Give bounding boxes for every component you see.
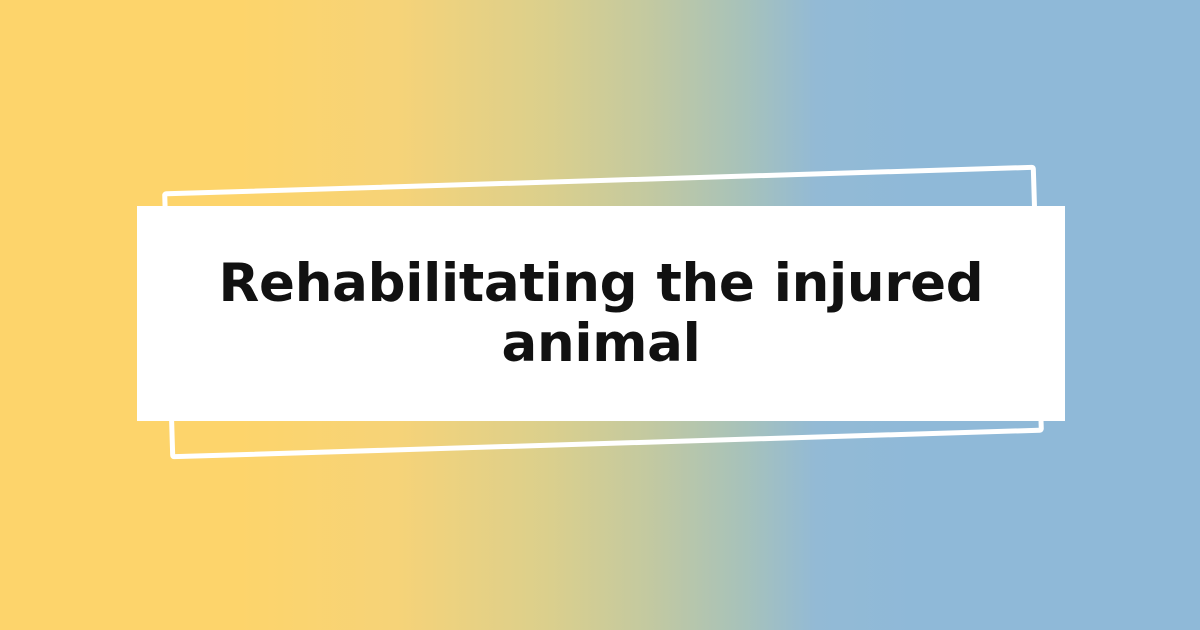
poster-canvas: Rehabilitating the injured animal xyxy=(0,0,1200,630)
headline-card: Rehabilitating the injured animal xyxy=(137,206,1065,421)
page-title: Rehabilitating the injured animal xyxy=(137,254,1065,373)
